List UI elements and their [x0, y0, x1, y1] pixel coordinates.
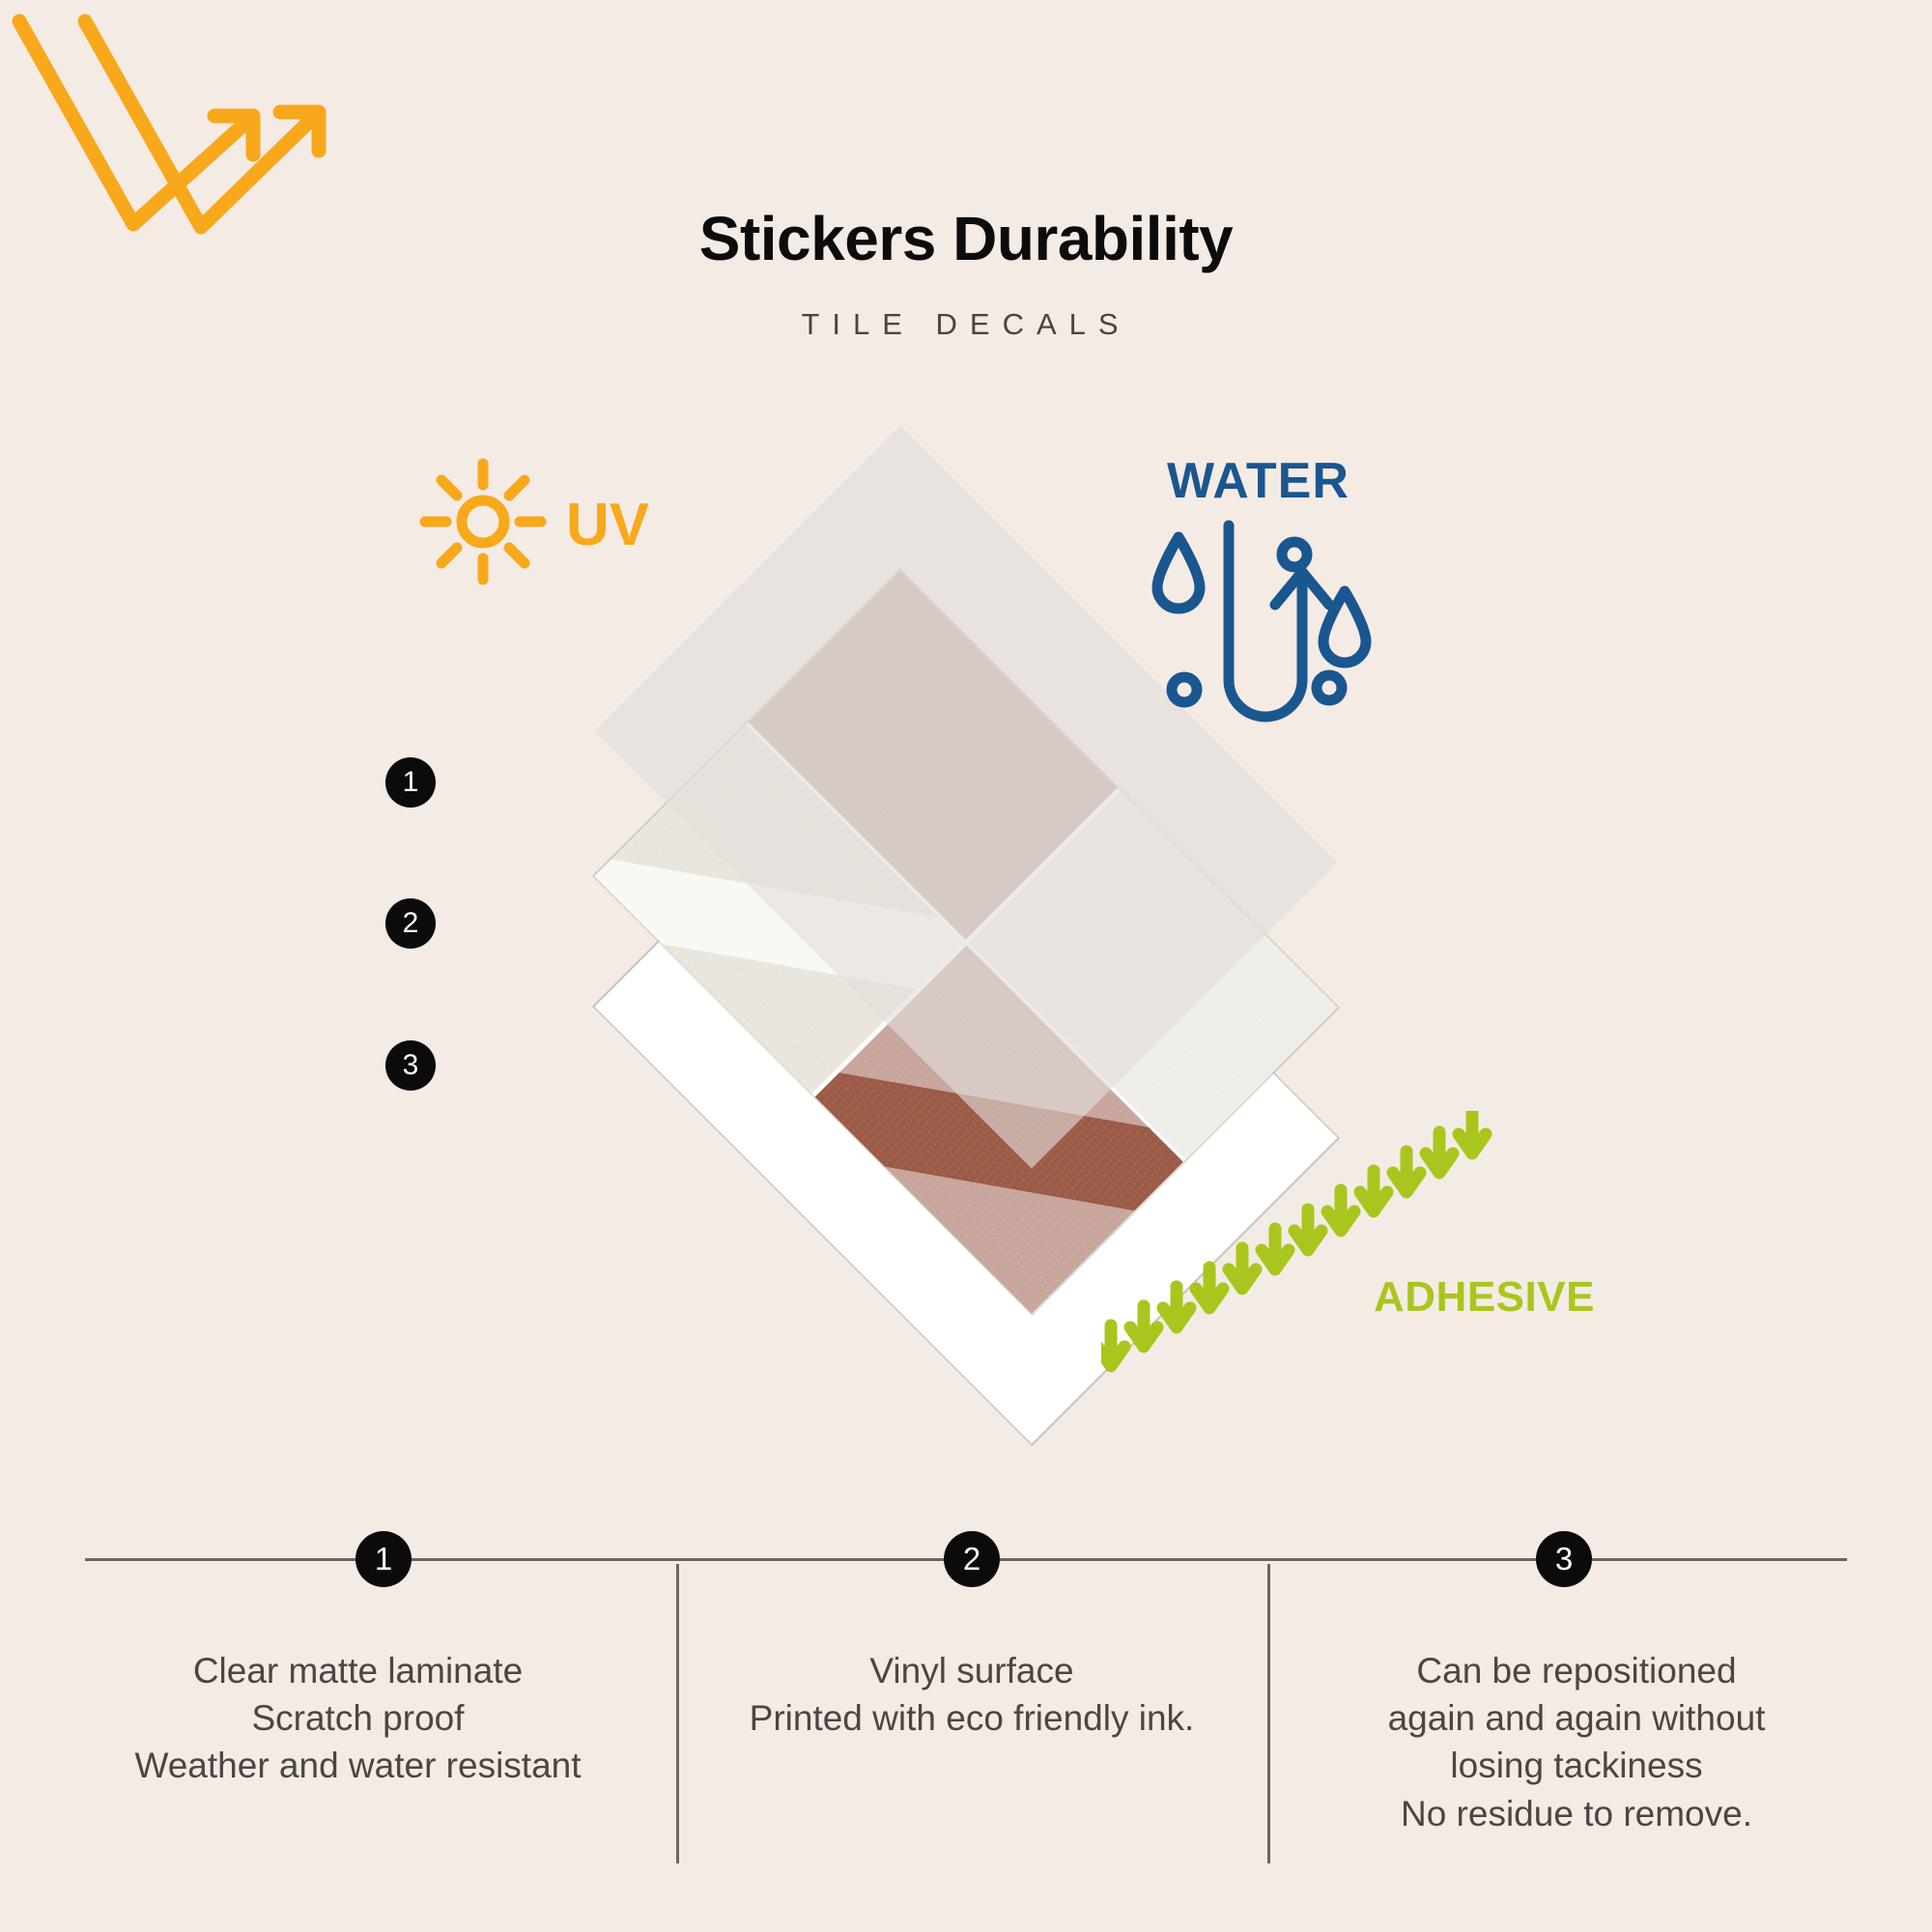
layer-badge-3: 3 — [385, 1040, 436, 1091]
layer-stack-diagram: 1 2 3 — [0, 0, 1932, 1468]
legend-text-3: Can be repositioned again and again with… — [1277, 1647, 1876, 1837]
sun-icon — [415, 454, 551, 589]
legend-badge-1: 1 — [355, 1531, 412, 1587]
uv-reflection-arrows-icon — [0, 0, 580, 425]
legend-divider-2 — [1267, 1564, 1270, 1863]
water-droplets-icon — [1140, 516, 1381, 738]
water-label: WATER — [1167, 452, 1350, 510]
adhesive-down-arrows-icon — [1101, 1111, 1507, 1381]
adhesive-label: ADHESIVE — [1374, 1273, 1595, 1321]
uv-label: UV — [566, 491, 649, 559]
legend-text-1: Clear matte laminate Scratch proof Weath… — [56, 1647, 660, 1790]
layer-badge-2: 2 — [385, 898, 436, 949]
legend-divider-1 — [676, 1564, 679, 1863]
legend-badge-2: 2 — [944, 1531, 1000, 1587]
adhesive-group: ADHESIVE — [1101, 1111, 1507, 1386]
legend-text-2: Vinyl surface Printed with eco friendly … — [688, 1647, 1256, 1742]
infographic-canvas: Stickers Durability TILE DECALS 1 2 3 — [0, 0, 1932, 1932]
legend-section: 1 2 3 Clear matte laminate Scratch proof… — [0, 1531, 1932, 1932]
layer-badge-1: 1 — [385, 757, 436, 808]
legend-badge-3: 3 — [1536, 1531, 1592, 1587]
